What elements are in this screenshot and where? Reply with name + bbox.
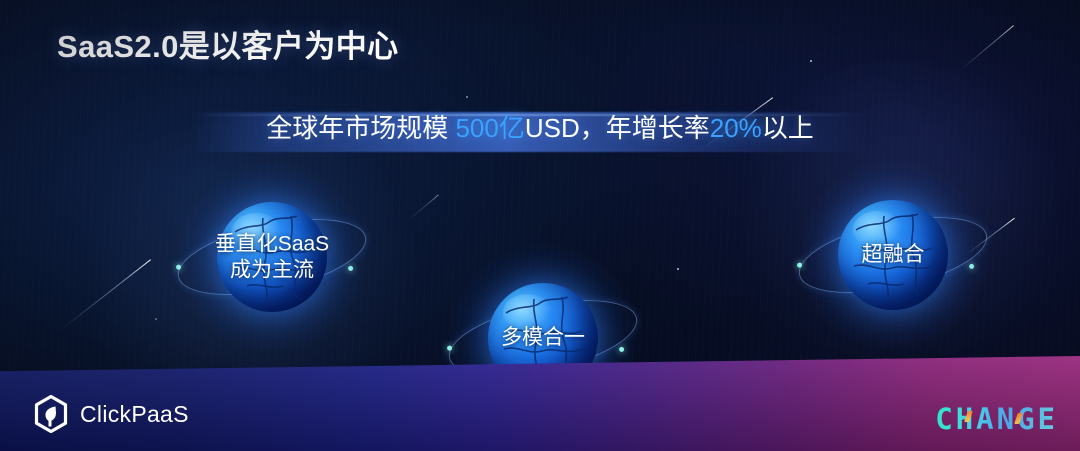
orbit-dot: [447, 345, 453, 351]
star-dot: [810, 60, 812, 62]
presentation-slide: SaaS2.0是以客户为中心 全球年市场规模 500亿USD，年增长率20%以上: [0, 0, 1080, 451]
subtitle-suffix: 以上: [762, 113, 814, 143]
star-dot: [677, 268, 679, 270]
sphere-label-line1: 超融合: [862, 242, 925, 268]
star-dot: [466, 96, 468, 98]
orbit-dot: [969, 263, 975, 269]
change-wordmark: CHANGE: [935, 402, 1058, 436]
shooting-star-streak: [960, 25, 1014, 71]
orbit-dot: [797, 262, 803, 268]
subtitle-highlight-market-size: 500亿: [455, 113, 524, 143]
orbit-dot: [619, 346, 625, 352]
subtitle-text: 全球年市场规模 500亿USD，年增长率20%以上: [0, 108, 1080, 145]
sphere-label: 多模合一: [501, 325, 585, 351]
subtitle-middle: USD，年增长率: [525, 113, 710, 143]
change-wordmark-text: CHANGE: [935, 402, 1058, 436]
subtitle-highlight-growth-rate: 20%: [710, 113, 762, 143]
orbit-dot: [348, 265, 354, 271]
star-dot: [155, 318, 157, 320]
sphere-label-line1: 多模合一: [501, 325, 585, 351]
clickpaas-logo-text: ClickPaaS: [80, 401, 189, 428]
subtitle-prefix: 全球年市场规模: [266, 113, 455, 143]
shooting-star-streak: [408, 194, 439, 220]
sphere-label: 超融合: [862, 242, 925, 268]
sphere-label-line1: 垂直化SaaS: [215, 231, 329, 257]
clickpaas-hexagon-icon: [34, 395, 68, 433]
clickpaas-logo: ClickPaaS: [34, 395, 189, 433]
sphere-label-line2: 成为主流: [215, 257, 329, 283]
page-title: SaaS2.0是以客户为中心: [57, 21, 399, 66]
shooting-star-streak: [60, 259, 151, 331]
orbit-dot: [176, 264, 182, 270]
sphere-label: 垂直化SaaS 成为主流: [215, 231, 329, 282]
